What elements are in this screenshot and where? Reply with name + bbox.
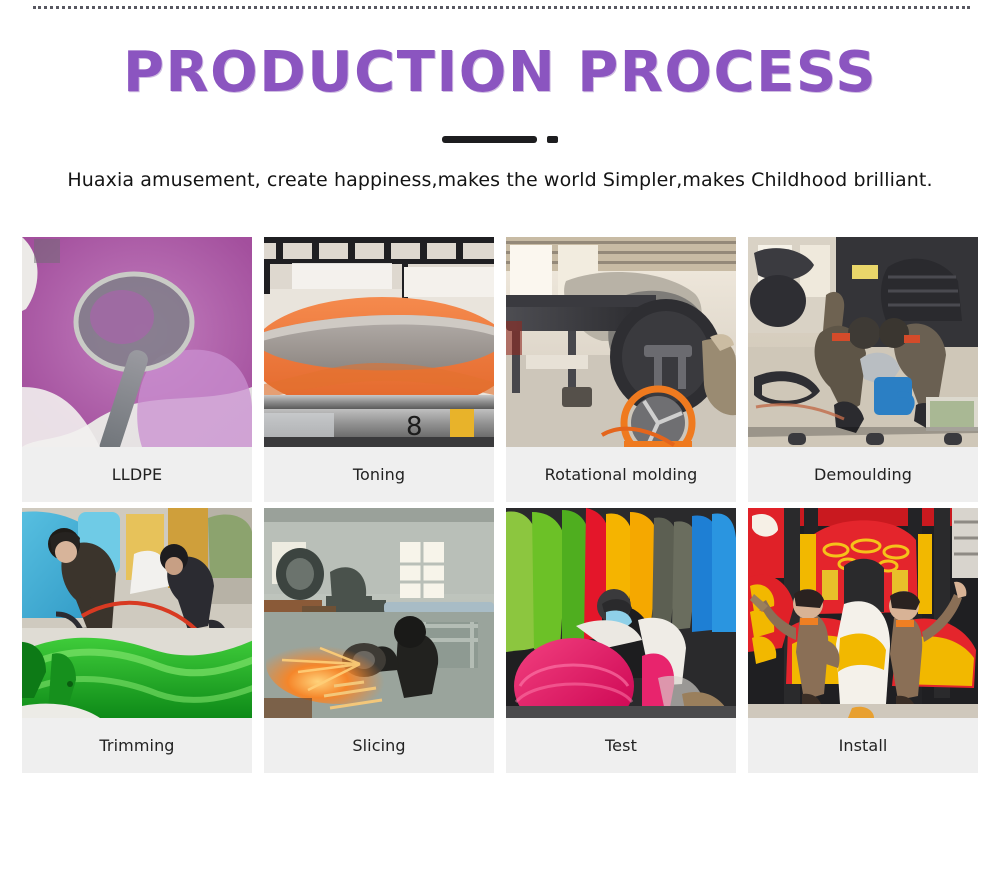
card-caption: Toning: [264, 447, 494, 502]
card-caption: Slicing: [264, 718, 494, 773]
process-card-lldpe[interactable]: LLDPE: [22, 237, 252, 502]
card-label: Toning: [353, 465, 405, 484]
production-process-page: PRODUCTION PROCESS Huaxia amusement, cre…: [0, 0, 1000, 893]
top-dotted-divider: [33, 6, 970, 9]
page-header: PRODUCTION PROCESS Huaxia amusement, cre…: [0, 0, 1000, 191]
process-card-toning[interactable]: 8 Toning: [264, 237, 494, 502]
page-subtitle: Huaxia amusement, create happiness,makes…: [0, 169, 1000, 191]
card-label: Demoulding: [814, 465, 912, 484]
card-label: Slicing: [352, 736, 405, 755]
card-label: LLDPE: [112, 465, 162, 484]
demoulding-workers-photo: [748, 237, 978, 447]
process-card-install[interactable]: Install: [748, 508, 978, 773]
toning-orange-powder-drum-photo: 8: [264, 237, 494, 447]
card-label: Trimming: [99, 736, 174, 755]
card-caption: Demoulding: [748, 447, 978, 502]
process-card-trimming[interactable]: Trimming: [22, 508, 252, 773]
card-caption: Rotational molding: [506, 447, 736, 502]
test-colored-slides-photo: [506, 508, 736, 718]
card-label: Rotational molding: [545, 465, 698, 484]
card-label: Install: [839, 736, 888, 755]
divider-dot: [547, 136, 558, 143]
title-underline-divider: [442, 133, 558, 145]
trimming-green-slide-photo: [22, 508, 252, 718]
divider-bar: [442, 136, 537, 143]
rotational-molding-machine-photo: [506, 237, 736, 447]
process-card-test[interactable]: Test: [506, 508, 736, 773]
process-card-demoulding[interactable]: Demoulding: [748, 237, 978, 502]
card-caption: LLDPE: [22, 447, 252, 502]
card-label: Test: [605, 736, 637, 755]
slicing-sparks-photo: [264, 508, 494, 718]
process-gallery-grid: LLDPE: [22, 237, 978, 773]
process-card-rotational-molding[interactable]: Rotational molding: [506, 237, 736, 502]
install-playground-workers-photo: [748, 508, 978, 718]
process-card-slicing[interactable]: Slicing: [264, 508, 494, 773]
page-title: PRODUCTION PROCESS: [0, 44, 1000, 103]
card-caption: Test: [506, 718, 736, 773]
card-caption: Trimming: [22, 718, 252, 773]
card-caption: Install: [748, 718, 978, 773]
lldpe-powder-scoop-photo: [22, 237, 252, 447]
